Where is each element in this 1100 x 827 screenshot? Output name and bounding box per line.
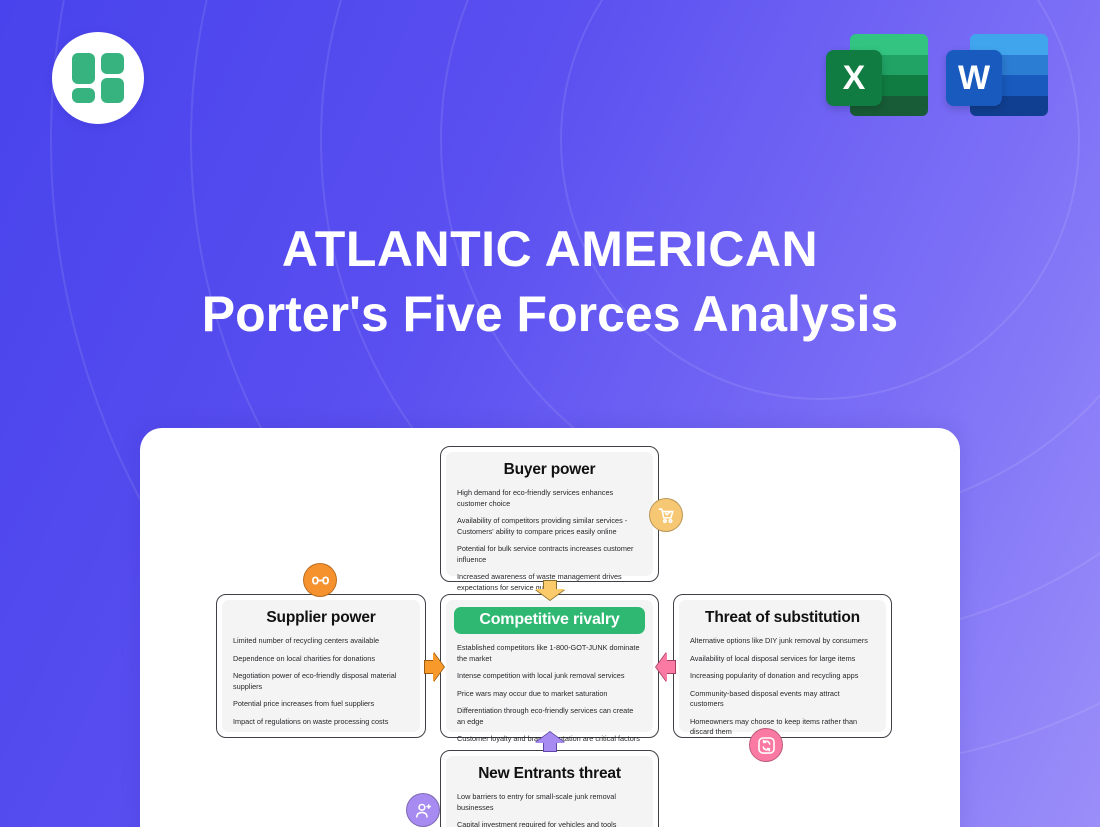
list-item: Increasing popularity of donation and re… — [690, 671, 875, 682]
brand-logo — [52, 32, 144, 124]
force-points-substitution: Alternative options like DIY junk remova… — [690, 636, 875, 738]
force-box-new-entrants-threat[interactable]: New Entrants threat Low barriers to entr… — [440, 750, 659, 827]
grid-blocks-icon — [72, 53, 124, 103]
force-box-buyer-power[interactable]: Buyer power High demand for eco-friendly… — [440, 446, 659, 582]
arrow-left-icon — [656, 652, 676, 682]
list-item: Limited number of recycling centers avai… — [233, 636, 409, 647]
list-item: Capital investment required for vehicles… — [457, 820, 642, 827]
list-item: Dependence on local charities for donati… — [233, 654, 409, 665]
force-title-supplier: Supplier power — [233, 609, 409, 627]
add-user-icon — [406, 793, 440, 827]
shopping-cart-icon — [649, 498, 683, 532]
list-item: Availability of local disposal services … — [690, 654, 875, 665]
arrow-right-icon — [424, 652, 444, 682]
excel-icon[interactable]: X — [826, 26, 928, 122]
force-points-rivalry: Established competitors like 1-800-GOT-J… — [457, 643, 642, 745]
list-item: Potential price increases from fuel supp… — [233, 699, 409, 710]
page-title-subject: Porter's Five Forces Analysis — [0, 283, 1100, 346]
diagram-card: Buyer power High demand for eco-friendly… — [140, 428, 960, 827]
force-title-rivalry: Competitive rivalry — [454, 607, 645, 634]
force-title-substitution: Threat of substitution — [690, 609, 875, 627]
force-box-supplier-power[interactable]: Supplier power Limited number of recycli… — [216, 594, 426, 738]
list-item: Alternative options like DIY junk remova… — [690, 636, 875, 647]
arrow-down-icon — [535, 580, 565, 598]
link-chain-icon — [303, 563, 337, 597]
force-box-competitive-rivalry[interactable]: Competitive rivalry Established competit… — [440, 594, 659, 738]
list-item: Low barriers to entry for small-scale ju… — [457, 792, 642, 813]
word-letter: W — [946, 50, 1002, 106]
arrow-up-icon — [535, 734, 565, 752]
export-format-icons: X W — [826, 26, 1048, 122]
force-box-threat-of-substitution[interactable]: Threat of substitution Alternative optio… — [673, 594, 892, 738]
list-item: Differentiation through eco-friendly ser… — [457, 706, 642, 727]
list-item: Negotiation power of eco-friendly dispos… — [233, 671, 409, 692]
force-points-buyer: High demand for eco-friendly services en… — [457, 488, 642, 594]
five-forces-diagram: Buyer power High demand for eco-friendly… — [140, 428, 960, 827]
force-title-entrants: New Entrants threat — [457, 765, 642, 783]
list-item: Impact of regulations on waste processin… — [233, 717, 409, 728]
list-item: Price wars may occur due to market satur… — [457, 689, 642, 700]
page-title-company: ATLANTIC AMERICAN — [0, 222, 1100, 277]
list-item: Community-based disposal events may attr… — [690, 689, 875, 710]
list-item: Availability of competitors providing si… — [457, 516, 642, 537]
list-item: Established competitors like 1-800-GOT-J… — [457, 643, 642, 664]
excel-letter: X — [826, 50, 882, 106]
force-points-supplier: Limited number of recycling centers avai… — [233, 636, 409, 727]
list-item: Potential for bulk service contracts inc… — [457, 544, 642, 565]
slide-canvas: X W ATLANTIC AMERICAN Porter's Five Forc… — [0, 0, 1100, 827]
force-title-buyer: Buyer power — [457, 461, 642, 479]
title-block: ATLANTIC AMERICAN Porter's Five Forces A… — [0, 222, 1100, 346]
list-item: Homeowners may choose to keep items rath… — [690, 717, 875, 738]
refresh-sync-icon — [749, 728, 783, 762]
force-points-entrants: Low barriers to entry for small-scale ju… — [457, 792, 642, 827]
list-item: High demand for eco-friendly services en… — [457, 488, 642, 509]
word-icon[interactable]: W — [946, 26, 1048, 122]
list-item: Intense competition with local junk remo… — [457, 671, 642, 682]
